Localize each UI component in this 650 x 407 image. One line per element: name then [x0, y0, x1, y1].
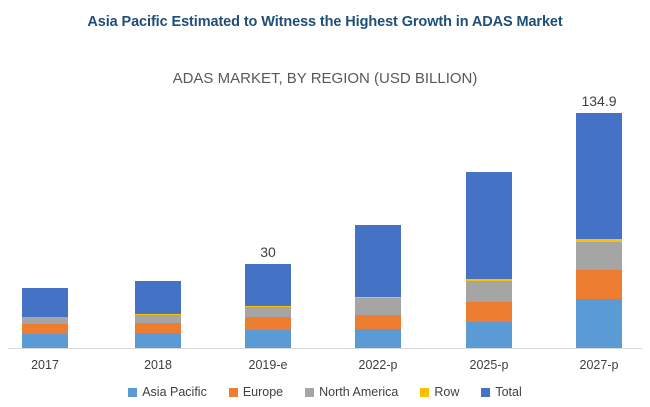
x-tick-2018: 2018	[113, 358, 203, 372]
bar-segment-asia-pacific[interactable]	[245, 330, 291, 348]
legend-label: Asia Pacific	[142, 385, 207, 399]
plot-area: 30134.9	[0, 0, 650, 349]
bar-segment-europe[interactable]	[135, 323, 181, 333]
bar-segment-total[interactable]	[466, 172, 512, 278]
legend-swatch-icon	[481, 388, 490, 397]
legend-swatch-icon	[305, 388, 314, 397]
bar-segment-europe[interactable]	[245, 317, 291, 330]
bar-segment-north-america[interactable]	[576, 242, 622, 271]
bar-group-2018[interactable]	[135, 1, 181, 349]
bar-segment-total[interactable]	[22, 288, 68, 317]
bar-segment-north-america[interactable]	[466, 281, 512, 302]
stacked-bar[interactable]	[355, 225, 401, 348]
x-tick-2017: 2017	[0, 358, 90, 372]
bar-segment-asia-pacific[interactable]	[135, 333, 181, 348]
legend-swatch-icon	[229, 388, 238, 397]
stacked-bar[interactable]	[22, 288, 68, 348]
x-axis-tick-labels: 201720182019-e2022-p2025-p2027-p	[0, 358, 650, 378]
x-tick-2019-e: 2019-e	[223, 358, 313, 372]
bar-segment-asia-pacific[interactable]	[22, 334, 68, 348]
legend-label: Total	[495, 385, 521, 399]
bar-segment-total[interactable]	[135, 281, 181, 314]
bar-segment-total[interactable]	[576, 113, 622, 239]
stacked-bar[interactable]	[245, 264, 291, 348]
chart-legend: Asia PacificEuropeNorth AmericaRowTotal	[0, 382, 650, 402]
bar-segment-north-america[interactable]	[22, 317, 68, 324]
bar-segment-asia-pacific[interactable]	[355, 329, 401, 348]
legend-item-europe[interactable]: Europe	[229, 385, 283, 399]
x-tick-2027-p: 2027-p	[554, 358, 644, 372]
bar-group-2017[interactable]	[22, 1, 68, 349]
adas-market-chart: Asia Pacific Estimated to Witness the Hi…	[0, 0, 650, 407]
stacked-bar[interactable]	[466, 172, 512, 348]
bar-group-2019-e[interactable]: 30	[245, 1, 291, 349]
bar-segment-europe[interactable]	[22, 324, 68, 334]
legend-label: North America	[319, 385, 398, 399]
bar-segment-total[interactable]	[245, 264, 291, 306]
stacked-bar[interactable]	[135, 281, 181, 348]
legend-item-row[interactable]: Row	[420, 385, 459, 399]
bar-group-2027-p[interactable]: 134.9	[576, 1, 622, 349]
bar-segment-europe[interactable]	[576, 270, 622, 299]
bar-segment-asia-pacific[interactable]	[576, 299, 622, 348]
x-tick-2025-p: 2025-p	[444, 358, 534, 372]
legend-item-north-america[interactable]: North America	[305, 385, 398, 399]
x-axis-line	[8, 348, 642, 349]
bar-segment-europe[interactable]	[355, 315, 401, 329]
legend-swatch-icon	[420, 388, 429, 397]
bar-value-label: 30	[208, 244, 328, 260]
bar-group-2022-p[interactable]	[355, 1, 401, 349]
stacked-bar[interactable]	[576, 113, 622, 348]
bar-value-label: 134.9	[539, 93, 650, 109]
bar-segment-north-america[interactable]	[355, 298, 401, 315]
legend-label: Europe	[243, 385, 283, 399]
bar-group-2025-p[interactable]	[466, 1, 512, 349]
bar-segment-total[interactable]	[355, 225, 401, 297]
bar-segment-north-america[interactable]	[245, 307, 291, 317]
bar-segment-north-america[interactable]	[135, 315, 181, 323]
legend-label: Row	[434, 385, 459, 399]
bar-segment-asia-pacific[interactable]	[466, 322, 512, 348]
legend-item-total[interactable]: Total	[481, 385, 521, 399]
bar-segment-europe[interactable]	[466, 302, 512, 322]
legend-item-asia-pacific[interactable]: Asia Pacific	[128, 385, 207, 399]
legend-swatch-icon	[128, 388, 137, 397]
x-tick-2022-p: 2022-p	[333, 358, 423, 372]
